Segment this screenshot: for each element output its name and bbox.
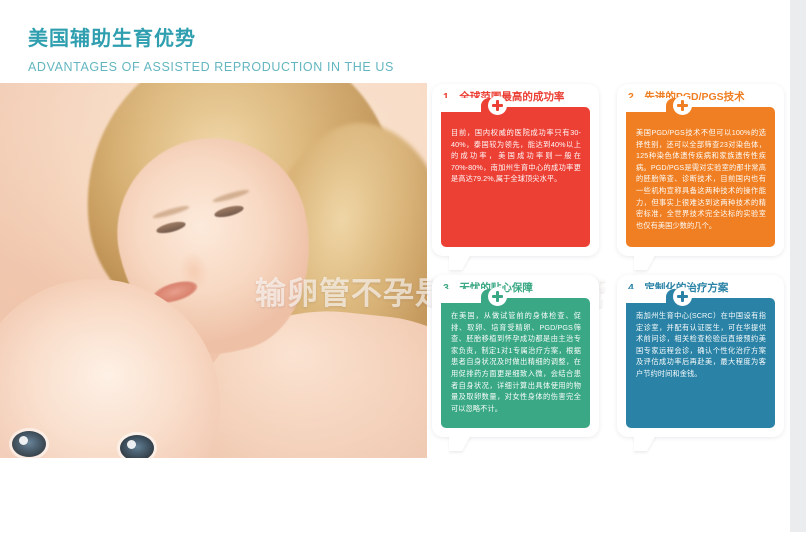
card-3-tail: [449, 435, 471, 451]
medical-cross-icon: [488, 287, 507, 306]
medical-cross-icon: [673, 287, 692, 306]
page-gutter-bottom: [0, 532, 806, 550]
card-1-panel: 目前，国内权威的医院成功率只有30-40%，泰国较为领先，能达到40%以上的成功…: [441, 107, 590, 247]
card-2-body: 美国PGD/PGS技术不但可以100%的选择性别，还可以全部筛查23对染色体，1…: [636, 127, 766, 231]
hero-image: [0, 83, 427, 458]
card-3-body: 在美国，从做试管前的身体检查、促排、取卵、培育受精卵、PGD/PGS筛查、胚胎移…: [451, 310, 581, 414]
card-3-panel: 在美国，从做试管前的身体检查、促排、取卵、培育受精卵、PGD/PGS筛查、胚胎移…: [441, 298, 590, 428]
hero-vignette: [0, 83, 427, 458]
card-4-panel: 南加州生育中心(SCRC）在中国设有指定诊室，并配有认证医生，可在华提供术前问诊…: [626, 298, 775, 428]
page-root: 美国辅助生育优势 ADVANTAGES OF ASSISTED REPRODUC…: [0, 0, 806, 550]
page-heading: 美国辅助生育优势 ADVANTAGES OF ASSISTED REPRODUC…: [28, 26, 458, 76]
advantage-cards: 1、全球范围最高的成功率 目前，国内权威的医院成功率只有30-40%，泰国较为领…: [432, 84, 784, 454]
hero-photo: [0, 83, 427, 458]
card-2-panel: 美国PGD/PGS技术不但可以100%的选择性别，还可以全部筛查23对染色体，1…: [626, 107, 775, 247]
page-gutter-right: [790, 0, 806, 550]
advantage-card-3[interactable]: 3、无忧的贴心保障 在美国，从做试管前的身体检查、促排、取卵、培育受精卵、PGD…: [432, 275, 599, 437]
card-1-tail: [449, 254, 471, 270]
advantage-card-4[interactable]: 4、定制化的治疗方案 南加州生育中心(SCRC）在中国设有指定诊室，并配有认证医…: [617, 275, 784, 437]
page-title-en: ADVANTAGES OF ASSISTED REPRODUCTION IN T…: [28, 58, 458, 76]
page-title-cn: 美国辅助生育优势: [28, 26, 458, 52]
medical-cross-icon: [488, 96, 507, 115]
card-2-tail: [634, 254, 656, 270]
advantage-card-1[interactable]: 1、全球范围最高的成功率 目前，国内权威的医院成功率只有30-40%，泰国较为领…: [432, 84, 599, 256]
card-4-tail: [634, 435, 656, 451]
advantage-card-2[interactable]: 2、先进的PGD/PGS技术 美国PGD/PGS技术不但可以100%的选择性别，…: [617, 84, 784, 256]
card-4-body: 南加州生育中心(SCRC）在中国设有指定诊室，并配有认证医生，可在华提供术前问诊…: [636, 310, 766, 380]
card-1-body: 目前，国内权威的医院成功率只有30-40%，泰国较为领先，能达到40%以上的成功…: [451, 127, 581, 185]
medical-cross-icon: [673, 96, 692, 115]
